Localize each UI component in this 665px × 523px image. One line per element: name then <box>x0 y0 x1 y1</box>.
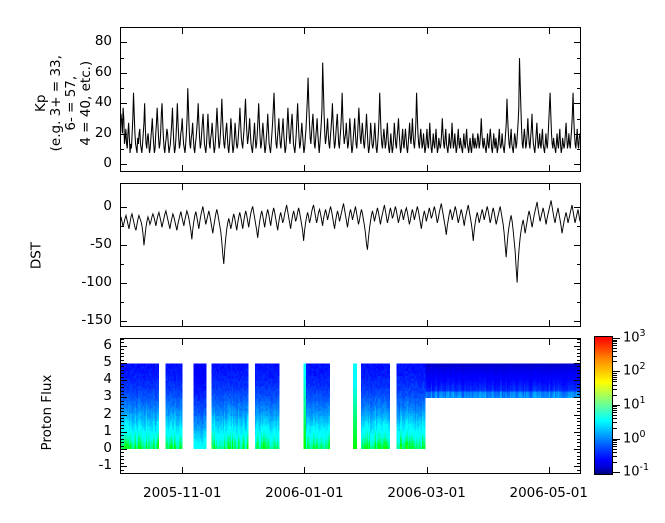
spectrogram-cell <box>355 399 357 402</box>
spectrogram-cell <box>205 394 207 397</box>
spectrogram-cell <box>247 446 248 449</box>
spectrogram-cell <box>205 438 207 441</box>
spectrogram-cell <box>158 411 159 414</box>
spectrogram-cell <box>355 426 357 429</box>
spectrogram-cell <box>247 411 248 414</box>
spectrogram-cell <box>158 381 159 384</box>
spectrogram-cell <box>278 369 280 372</box>
spectrogram-cell <box>278 396 280 399</box>
spectrogram-cell <box>247 386 248 389</box>
flux-ytick-label: 5 <box>60 356 112 370</box>
flux-ytick-label: 0 <box>60 442 112 456</box>
spectrogram-cell <box>329 364 330 367</box>
spectrogram-cell <box>205 401 207 404</box>
spectrogram-cell <box>278 386 280 389</box>
spectrogram-cell <box>329 423 330 426</box>
spectrogram-cell <box>278 431 280 434</box>
kp-axis-label-line1: Kp <box>34 33 49 173</box>
spectrogram-cell <box>355 369 357 372</box>
spectrogram-cell <box>181 399 183 402</box>
spectrogram-cell <box>158 446 159 449</box>
spectrogram-cell <box>355 376 357 379</box>
spectrogram-cell <box>329 374 330 377</box>
spectrogram-cell <box>205 441 207 444</box>
spectrogram-cell <box>181 433 183 436</box>
spectrogram-cell <box>247 371 248 374</box>
spectrogram-cell <box>329 421 330 424</box>
spectrogram-cell <box>355 371 357 374</box>
spectrogram-cell <box>247 379 248 382</box>
spectrogram-cell <box>181 381 183 384</box>
spectrogram-cell <box>181 441 183 444</box>
spectrogram-cell <box>355 366 357 369</box>
spectrogram-cell <box>205 416 207 419</box>
spectrogram-cell <box>355 423 357 426</box>
spectrogram-cell <box>355 411 357 414</box>
spectrogram-cell <box>329 441 330 444</box>
spectrogram-cell <box>247 366 248 369</box>
spectrogram-cell <box>247 396 248 399</box>
spectrogram-cell <box>181 446 183 449</box>
spectrogram-cell <box>205 369 207 372</box>
spectrogram-cell <box>247 423 248 426</box>
kp-series <box>121 28 580 171</box>
spectrogram-cell <box>278 389 280 392</box>
spectrogram-cell <box>158 416 159 419</box>
spectrogram-cell <box>158 364 159 367</box>
spectrogram-cell <box>247 418 248 421</box>
spectrogram-cell <box>278 381 280 384</box>
spectrogram-cell <box>158 408 159 411</box>
spectrogram-cell <box>329 396 330 399</box>
spectrogram-cell <box>205 364 207 367</box>
spectrogram-cell <box>329 426 330 429</box>
spectrogram-cell <box>278 366 280 369</box>
spectrogram-cell <box>355 364 357 367</box>
spectrogram-cell <box>158 391 159 394</box>
dst-ytick-label: -150 <box>60 314 112 328</box>
spectrogram-cell <box>205 366 207 369</box>
spectrogram-cell <box>355 404 357 407</box>
spectrogram-cell <box>329 389 330 392</box>
spectrogram-cell <box>158 443 159 446</box>
spectrogram-cell <box>205 428 207 431</box>
spectrogram-cell <box>205 396 207 399</box>
spectrogram-cell <box>181 364 183 367</box>
spectrogram-cell <box>158 428 159 431</box>
spectrogram-cell <box>181 401 183 404</box>
spectrogram-cell <box>329 438 330 441</box>
spectrogram-cell <box>205 391 207 394</box>
flux-ytick-label: 2 <box>60 408 112 422</box>
figure-canvas: Kp (e.g. 3+ = 33, 6- = 57, 4 = 40, etc.)… <box>0 0 665 523</box>
spectrogram-cell <box>158 396 159 399</box>
spectrogram-cell <box>278 408 280 411</box>
spectrogram-cell <box>355 418 357 421</box>
spectrogram-cell <box>355 408 357 411</box>
spectrogram-cell <box>181 376 183 379</box>
spectrogram-cell <box>158 418 159 421</box>
spectrogram-cell <box>329 376 330 379</box>
spectrogram-cell <box>205 413 207 416</box>
spectrogram-cell <box>181 391 183 394</box>
spectrogram-cell <box>205 389 207 392</box>
spectrogram-cell <box>278 418 280 421</box>
spectrogram-cell <box>205 423 207 426</box>
spectrogram-cell <box>247 394 248 397</box>
spectrogram-cell <box>181 384 183 387</box>
spectrogram-cell <box>158 406 159 409</box>
spectrogram-cell <box>158 431 159 434</box>
spectrogram-cell <box>329 406 330 409</box>
spectrogram-cell <box>278 394 280 397</box>
spectrogram-cell <box>247 399 248 402</box>
spectrogram-cell <box>181 408 183 411</box>
spectrogram-cell <box>205 408 207 411</box>
spectrogram-cell <box>205 426 207 429</box>
spectrogram-cell <box>205 386 207 389</box>
spectrogram-cell <box>355 436 357 439</box>
spectrogram-cell <box>158 421 159 424</box>
spectrogram-cell <box>181 428 183 431</box>
proton-flux-axis-label-line1: Proton Flux <box>40 360 55 465</box>
spectrogram-cell <box>158 441 159 444</box>
spectrogram-cell <box>329 381 330 384</box>
spectrogram-cell <box>158 376 159 379</box>
spectrogram-cell <box>181 411 183 414</box>
spectrogram-cell <box>355 396 357 399</box>
spectrogram-cell <box>247 413 248 416</box>
dst-axis-label-line1: DST <box>29 226 44 286</box>
spectrogram-cell <box>158 401 159 404</box>
kp-ytick-label: 0 <box>60 157 112 171</box>
spectrogram-cell <box>158 371 159 374</box>
spectrogram-cell <box>278 443 280 446</box>
spectrogram-cell <box>205 436 207 439</box>
spectrogram-cell <box>355 401 357 404</box>
spectrogram-cell <box>329 394 330 397</box>
spectrogram-cell <box>181 416 183 419</box>
spectrogram-cell <box>278 423 280 426</box>
spectrogram-cell <box>247 381 248 384</box>
spectrogram-cell <box>247 438 248 441</box>
spectrogram-cell <box>158 436 159 439</box>
dst-series <box>121 184 580 326</box>
spectrogram-cell <box>158 366 159 369</box>
spectrogram-cell <box>329 379 330 382</box>
spectrogram-cell <box>355 438 357 441</box>
spectrogram-cell <box>247 369 248 372</box>
spectrogram-cell <box>205 374 207 377</box>
spectrogram-cell <box>355 384 357 387</box>
spectrogram-cell <box>278 391 280 394</box>
kp-ytick-label: 80 <box>60 35 112 49</box>
dst-ytick-label: 0 <box>60 200 112 214</box>
spectrogram-cell <box>181 406 183 409</box>
spectrogram-cell <box>329 386 330 389</box>
spectrogram-cell <box>278 411 280 414</box>
flux-ytick-label: 1 <box>60 425 112 439</box>
spectrogram-cell <box>355 374 357 377</box>
spectrogram-cell <box>278 406 280 409</box>
flux-ytick-label: -1 <box>60 459 112 473</box>
spectrogram-cell <box>181 396 183 399</box>
spectrogram-cell <box>181 431 183 434</box>
spectrogram-cell <box>181 394 183 397</box>
spectrogram-cell <box>158 394 159 397</box>
spectrogram-cell <box>181 369 183 372</box>
spectrogram-cell <box>355 389 357 392</box>
spectrogram-cell <box>329 371 330 374</box>
spectrogram-cell <box>329 369 330 372</box>
spectrogram-cell <box>247 406 248 409</box>
spectrogram-cell <box>247 426 248 429</box>
spectrogram-cell <box>355 413 357 416</box>
spectrogram-cell <box>181 389 183 392</box>
spectrogram-cell <box>278 384 280 387</box>
spectrogram-cell <box>181 438 183 441</box>
spectrogram-cell <box>158 399 159 402</box>
dst-ytick-label: -50 <box>60 238 112 252</box>
spectrogram-cell <box>355 431 357 434</box>
flux-ytick-label: 6 <box>60 339 112 353</box>
spectrogram-cell <box>278 379 280 382</box>
spectrogram-cell <box>247 391 248 394</box>
spectrogram-cell <box>355 428 357 431</box>
spectrogram-cell <box>355 421 357 424</box>
spectrogram-cell <box>355 443 357 446</box>
spectrogram-cell <box>205 418 207 421</box>
spectrogram-cell <box>158 426 159 429</box>
spectrogram-cell <box>205 381 207 384</box>
spectrogram-cell <box>205 371 207 374</box>
spectrogram-cell <box>247 384 248 387</box>
spectrogram-cell <box>355 394 357 397</box>
spectrogram-cell <box>278 374 280 377</box>
spectrogram-cell <box>247 428 248 431</box>
spectrogram-cell <box>158 369 159 372</box>
spectrogram-cell <box>181 379 183 382</box>
spectrogram-cell <box>278 416 280 419</box>
spectrogram-cell <box>329 431 330 434</box>
spectrogram-cell <box>205 421 207 424</box>
spectrogram-cell <box>278 421 280 424</box>
spectrogram-cell <box>158 413 159 416</box>
kp-ytick-label: 20 <box>60 127 112 141</box>
spectrogram-cell <box>247 416 248 419</box>
spectrogram-cell <box>181 418 183 421</box>
spectrogram-cell <box>355 381 357 384</box>
spectrogram-cell <box>278 401 280 404</box>
spectrogram-cell <box>329 401 330 404</box>
spectrogram-cell <box>355 391 357 394</box>
spectrogram-cell <box>247 404 248 407</box>
spectrogram-cell <box>278 371 280 374</box>
spectrogram-cell <box>278 413 280 416</box>
spectrogram-cell <box>205 433 207 436</box>
spectrogram-cell <box>205 404 207 407</box>
spectrogram-cell <box>247 431 248 434</box>
spectrogram-cell <box>329 413 330 416</box>
spectrogram-cell <box>247 376 248 379</box>
spectrogram-cell <box>329 411 330 414</box>
spectrogram-cell <box>181 371 183 374</box>
kp-ytick-label: 60 <box>60 66 112 80</box>
spectrogram-cell <box>355 441 357 444</box>
spectrogram-cell <box>278 376 280 379</box>
spectrogram-cell <box>278 433 280 436</box>
spectrogram-cell <box>158 384 159 387</box>
spectrogram-cell <box>278 428 280 431</box>
proton-flux-axis-label: Proton Flux <box>40 360 55 465</box>
flux-ytick-label: 3 <box>60 390 112 404</box>
dst-plot-area <box>120 183 581 327</box>
spectrogram-cell <box>329 384 330 387</box>
spectrogram-cell <box>205 376 207 379</box>
spectrogram-cell <box>329 433 330 436</box>
spectrogram-cell <box>247 401 248 404</box>
spectrogram-cell <box>247 443 248 446</box>
spectrogram-cell <box>247 436 248 439</box>
spectrogram-cell <box>181 423 183 426</box>
spectrogram-cell <box>158 438 159 441</box>
spectrogram-cell <box>158 386 159 389</box>
spectrogram-cell <box>329 399 330 402</box>
proton-flux-spectrogram <box>121 339 580 473</box>
spectrogram-cell <box>278 399 280 402</box>
spectrogram-cell <box>205 379 207 382</box>
spectrogram-cell <box>329 366 330 369</box>
spectrogram-cell <box>355 379 357 382</box>
spectrogram-cell <box>181 426 183 429</box>
spectrogram-cell <box>329 436 330 439</box>
spectrogram-cell <box>355 406 357 409</box>
spectrogram-cell <box>355 433 357 436</box>
spectrogram-cell <box>247 408 248 411</box>
spectrogram-cell <box>329 391 330 394</box>
spectrogram-cell <box>205 431 207 434</box>
spectrogram-cell <box>329 418 330 421</box>
spectrogram-cell <box>158 423 159 426</box>
proton-flux-plot-area <box>120 338 581 474</box>
spectrogram-cell <box>181 386 183 389</box>
flux-ytick-label: 4 <box>60 373 112 387</box>
dst-axis-label: DST <box>29 226 44 286</box>
spectrogram-cell <box>181 374 183 377</box>
spectrogram-cell <box>181 413 183 416</box>
spectrogram-cell <box>329 428 330 431</box>
spectrogram-cell <box>158 404 159 407</box>
spectrogram-cell <box>355 386 357 389</box>
spectrogram-cell <box>205 399 207 402</box>
spectrogram-cell <box>329 446 330 449</box>
spectrogram-cell <box>205 406 207 409</box>
spectrogram-cell <box>278 364 280 367</box>
spectrogram-cell <box>278 438 280 441</box>
spectrogram-cell <box>355 446 357 449</box>
kp-ytick-label: 40 <box>60 96 112 110</box>
spectrogram-cell <box>205 443 207 446</box>
spectrogram-cell <box>247 364 248 367</box>
spectrogram-cell <box>181 366 183 369</box>
spectrogram-cell <box>278 436 280 439</box>
spectrogram-cell <box>278 446 280 449</box>
spectrogram-cell <box>181 436 183 439</box>
spectrogram-cell <box>205 384 207 387</box>
spectrogram-cell <box>158 389 159 392</box>
spectrogram-cell <box>247 441 248 444</box>
spectrogram-cell <box>329 404 330 407</box>
spectrogram-cell <box>181 421 183 424</box>
dst-trace <box>121 200 580 282</box>
spectrogram-cell <box>205 446 207 449</box>
spectrogram-cell <box>247 389 248 392</box>
spectrogram-cell <box>158 379 159 382</box>
dst-ytick-label: -100 <box>60 276 112 290</box>
spectrogram-cell <box>329 408 330 411</box>
spectrogram-cell <box>247 421 248 424</box>
spectrogram-cell <box>181 443 183 446</box>
spectrogram-cell <box>278 404 280 407</box>
spectrogram-cell <box>158 374 159 377</box>
kp-trace <box>121 58 580 153</box>
spectrogram-cell <box>158 433 159 436</box>
spectrogram-cell <box>355 416 357 419</box>
spectrogram-cell <box>278 426 280 429</box>
spectrogram-cell <box>329 416 330 419</box>
spectrogram-cell <box>205 411 207 414</box>
spectrogram-cell <box>247 433 248 436</box>
spectrogram-cell <box>181 404 183 407</box>
spectrogram-cell <box>247 374 248 377</box>
spectrogram-cell <box>278 441 280 444</box>
spectrogram-cell <box>329 443 330 446</box>
kp-plot-area <box>120 27 581 172</box>
